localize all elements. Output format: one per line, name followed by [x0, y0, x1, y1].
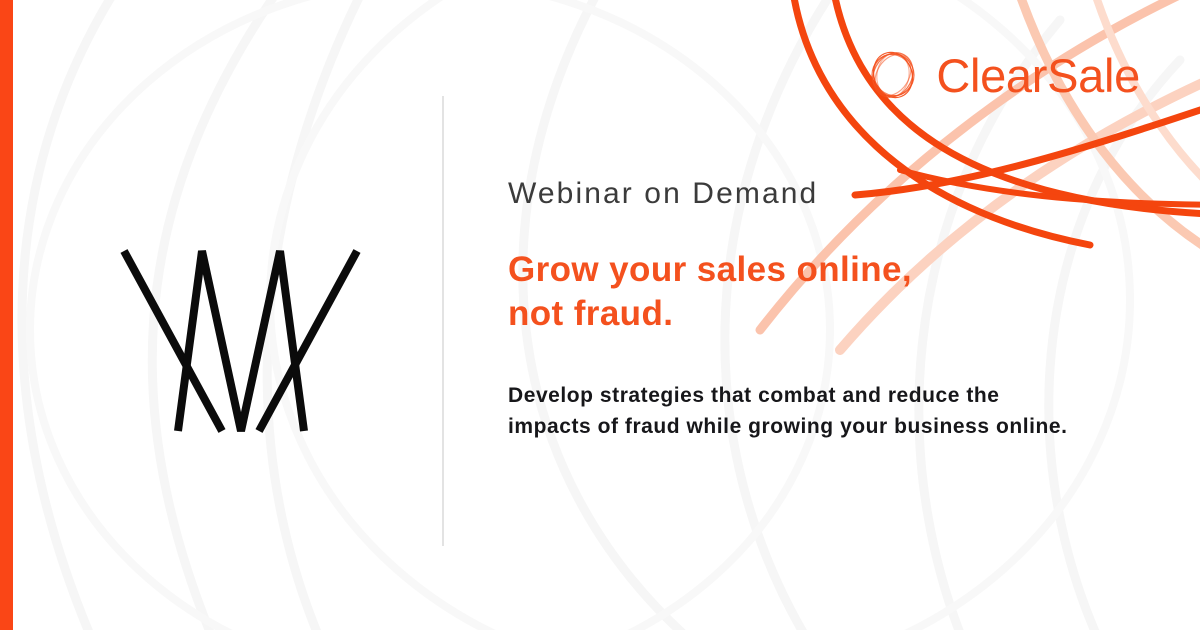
promo-text-block: Webinar on Demand Grow your sales online… [508, 176, 1148, 443]
brand-lockup: ClearSale [866, 48, 1140, 102]
webinar-promo-banner: ClearSale Webinar on Demand Grow your sa… [0, 0, 1200, 630]
clearsale-wordmark: ClearSale [936, 52, 1140, 99]
vertical-divider [442, 96, 444, 546]
clearsale-scribble-circle-icon [866, 48, 920, 102]
headline-line-1: Grow your sales online, [508, 248, 1148, 292]
zigzag-monogram-graphic [118, 245, 363, 437]
headline: Grow your sales online, not fraud. [508, 248, 1148, 336]
subcopy: Develop strategies that combat and reduc… [508, 380, 1148, 443]
subcopy-line-2: impacts of fraud while growing your busi… [508, 411, 1148, 442]
left-accent-bar [0, 0, 13, 630]
subcopy-line-1: Develop strategies that combat and reduc… [508, 380, 1148, 411]
headline-line-2: not fraud. [508, 292, 1148, 336]
eyebrow-label: Webinar on Demand [508, 176, 1148, 212]
